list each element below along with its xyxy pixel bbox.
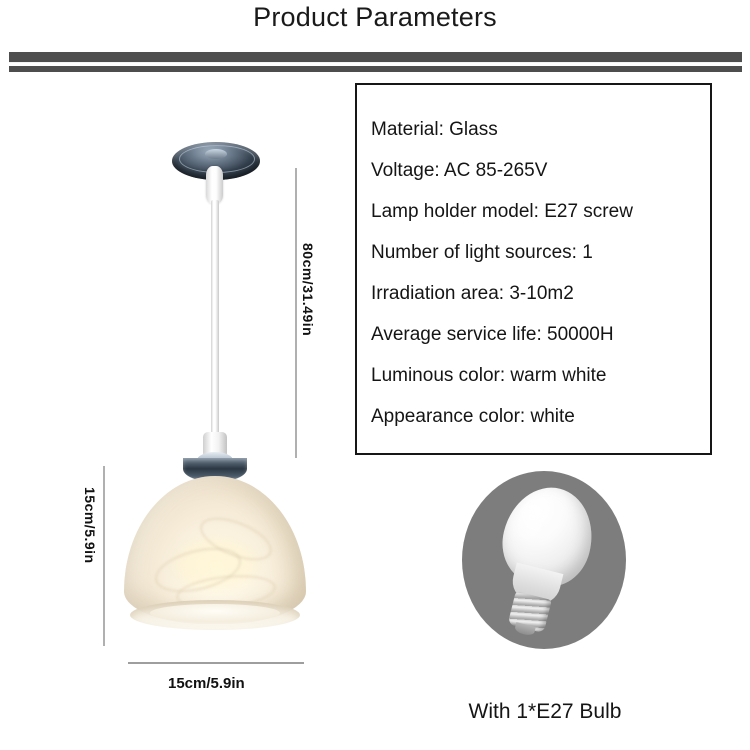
spec-item-material: Material: Glass bbox=[371, 109, 710, 150]
e27-bulb-icon bbox=[476, 477, 613, 646]
shade-width-label: 15cm/5.9in bbox=[168, 675, 245, 692]
spec-item-irradiation-area: Irradiation area: 3-10m2 bbox=[371, 273, 710, 314]
drop-length-guide-line bbox=[295, 168, 297, 458]
spec-item-light-sources: Number of light sources: 1 bbox=[371, 232, 710, 273]
spec-item-voltage: Voltage: AC 85-265V bbox=[371, 150, 710, 191]
spec-item-appearance-color: Appearance color: white bbox=[371, 396, 710, 437]
specification-list: Material: Glass Voltage: AC 85-265V Lamp… bbox=[357, 85, 710, 437]
spec-item-service-life: Average service life: 50000H bbox=[371, 314, 710, 355]
shade-rim-opening bbox=[150, 604, 280, 622]
shade-height-guide-line bbox=[103, 466, 105, 646]
spec-item-luminous-color: Luminous color: warm white bbox=[371, 355, 710, 396]
cord-connector bbox=[206, 166, 223, 204]
pendant-lamp-illustration bbox=[0, 0, 340, 700]
canopy-hub bbox=[205, 149, 227, 159]
spec-item-lamp-holder-model: Lamp holder model: E27 screw bbox=[371, 191, 710, 232]
shade-width-guide-line bbox=[128, 662, 304, 664]
hanging-cord bbox=[211, 200, 219, 438]
bulb-caption: With 1*E27 Bulb bbox=[395, 700, 695, 724]
shade-height-label: 15cm/5.9in bbox=[82, 487, 98, 564]
product-parameters-page: Product Parameters Material: Glass Volta… bbox=[0, 0, 750, 750]
drop-length-label: 80cm/31.49in bbox=[300, 243, 316, 336]
specification-box: Material: Glass Voltage: AC 85-265V Lamp… bbox=[355, 83, 712, 455]
bulb-circle-badge bbox=[462, 471, 626, 649]
glass-lamp-shade bbox=[124, 476, 306, 624]
